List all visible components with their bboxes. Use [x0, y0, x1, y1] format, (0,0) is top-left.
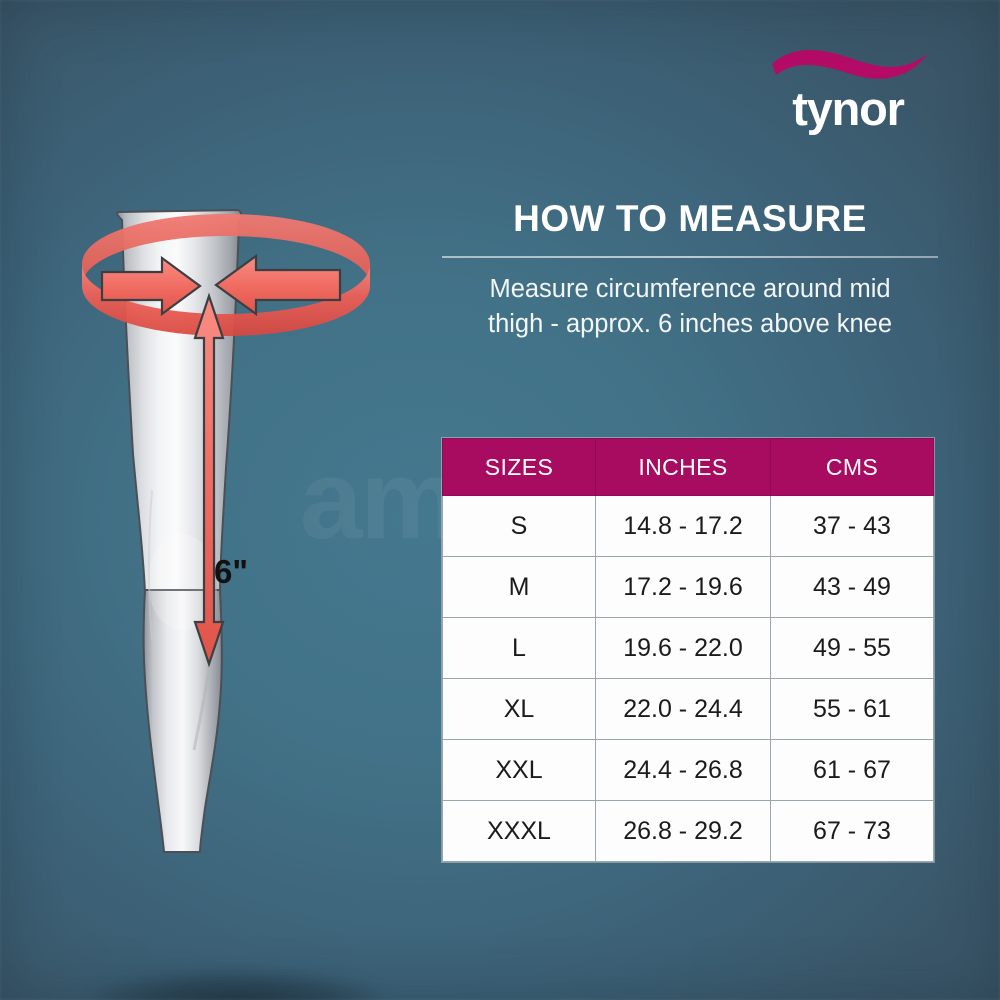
cell-size: M: [443, 557, 596, 618]
table-row: M 17.2 - 19.6 43 - 49: [443, 557, 934, 618]
cell-inches: 14.8 - 17.2: [596, 496, 771, 557]
leg-drop-shadow: [92, 970, 382, 1000]
cell-cms: 55 - 61: [770, 679, 933, 740]
table-header: SIZES INCHES CMS: [443, 439, 934, 496]
table-body: S 14.8 - 17.2 37 - 43 M 17.2 - 19.6 43 -…: [443, 496, 934, 862]
table-row: XXXL 26.8 - 29.2 67 - 73: [443, 801, 934, 862]
logo-wordmark: tynor: [758, 82, 938, 136]
cell-size: XXXL: [443, 801, 596, 862]
cell-inches: 26.8 - 29.2: [596, 801, 771, 862]
page-title: HOW TO MEASURE: [440, 196, 940, 242]
measurement-label: 6": [214, 553, 248, 591]
logo-swoosh-icon: [770, 44, 930, 86]
cell-cms: 61 - 67: [770, 740, 933, 801]
leg-diagram-svg: [40, 190, 420, 870]
instruction-line-2: thigh - approx. 6 inches above knee: [440, 307, 940, 342]
cell-inches: 17.2 - 19.6: [596, 557, 771, 618]
cell-cms: 37 - 43: [770, 496, 933, 557]
cell-cms: 43 - 49: [770, 557, 933, 618]
size-chart-table: SIZES INCHES CMS S 14.8 - 17.2 37 - 43 M…: [442, 438, 934, 862]
column-header-cms: CMS: [770, 439, 933, 496]
cell-inches: 22.0 - 24.4: [596, 679, 771, 740]
column-header-inches: INCHES: [596, 439, 771, 496]
measure-instructions: Measure circumference around mid thigh -…: [440, 272, 940, 342]
table-header-row: SIZES INCHES CMS: [443, 439, 934, 496]
tynor-logo: tynor: [758, 42, 938, 142]
cell-cms: 49 - 55: [770, 618, 933, 679]
column-header-sizes: SIZES: [443, 439, 596, 496]
table-row: XL 22.0 - 24.4 55 - 61: [443, 679, 934, 740]
cell-inches: 19.6 - 22.0: [596, 618, 771, 679]
cell-size: XL: [443, 679, 596, 740]
cell-inches: 24.4 - 26.8: [596, 740, 771, 801]
instruction-line-1: Measure circumference around mid: [440, 272, 940, 307]
title-divider: [442, 256, 938, 258]
table-row: L 19.6 - 22.0 49 - 55: [443, 618, 934, 679]
leg-measurement-illustration: 6": [40, 190, 420, 870]
cell-cms: 67 - 73: [770, 801, 933, 862]
cell-size: L: [443, 618, 596, 679]
table-row: XXL 24.4 - 26.8 61 - 67: [443, 740, 934, 801]
table-row: S 14.8 - 17.2 37 - 43: [443, 496, 934, 557]
cell-size: XXL: [443, 740, 596, 801]
cell-size: S: [443, 496, 596, 557]
size-chart-page: amazon tynor HOW TO MEASURE Measure circ…: [0, 0, 1000, 1000]
